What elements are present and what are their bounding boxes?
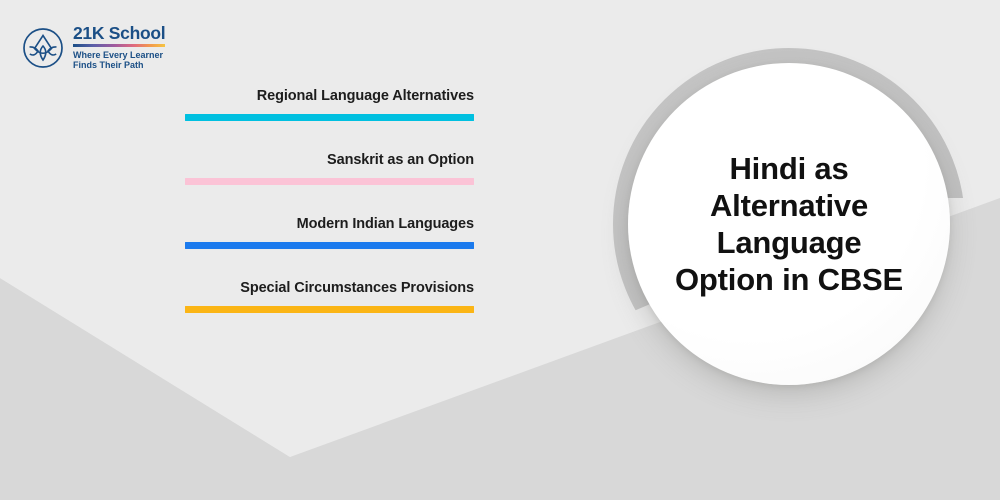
feature-label: Modern Indian Languages — [185, 216, 474, 242]
hero-title: Hindi as Alternative Language Option in … — [654, 150, 924, 299]
bar-underline-icon — [185, 114, 474, 121]
feature-list: Regional Language AlternativesSanskrit a… — [185, 88, 474, 313]
bar-underline-icon — [185, 242, 474, 249]
feature-label: Special Circumstances Provisions — [185, 280, 474, 306]
logo-name: 21K School — [73, 24, 165, 42]
logo-text-block: 21K School Where Every Learner Finds The… — [73, 24, 165, 71]
logo-tagline: Where Every Learner Finds Their Path — [73, 50, 165, 71]
feature-label: Regional Language Alternatives — [185, 88, 474, 114]
bar-underline-icon — [185, 178, 474, 185]
infographic-canvas: 21K School Where Every Learner Finds The… — [0, 0, 1000, 500]
brand-logo[interactable]: 21K School Where Every Learner Finds The… — [22, 24, 165, 71]
feature-item: Regional Language Alternatives — [185, 88, 474, 121]
feature-item: Sanskrit as an Option — [185, 152, 474, 185]
lotus-in-circle-icon — [22, 27, 64, 69]
feature-item: Special Circumstances Provisions — [185, 280, 474, 313]
feature-item: Modern Indian Languages — [185, 216, 474, 249]
feature-label: Sanskrit as an Option — [185, 152, 474, 178]
bar-underline-icon — [185, 306, 474, 313]
hero-circle: Hindi as Alternative Language Option in … — [628, 63, 950, 385]
logo-gradient-rule — [73, 44, 165, 47]
